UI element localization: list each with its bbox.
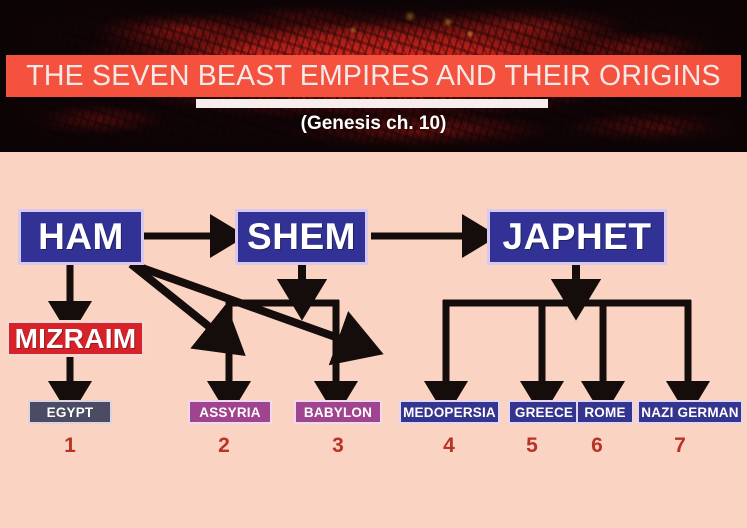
node-assyria[interactable]: ASSYRIA	[188, 400, 272, 424]
number-greece: 5	[502, 434, 562, 458]
number-egypt: 1	[40, 434, 100, 458]
title-underline	[196, 99, 548, 108]
header-banner: THE SEVEN BEAST EMPIRES AND THEIR ORIGIN…	[0, 0, 747, 152]
number-assyria: 2	[194, 434, 254, 458]
node-nazi-german[interactable]: NAZI GERMAN	[637, 400, 743, 424]
node-ham[interactable]: HAM	[18, 209, 144, 265]
number-medopersia: 4	[419, 434, 479, 458]
node-egypt[interactable]: EGYPT	[28, 400, 112, 424]
genealogy-diagram: HAM SHEM JAPHET MIZRAIM EGYPT ASSYRIA BA…	[0, 152, 747, 528]
number-babylon: 3	[308, 434, 368, 458]
node-greece[interactable]: GREECE	[508, 400, 580, 424]
page-title: THE SEVEN BEAST EMPIRES AND THEIR ORIGIN…	[6, 55, 741, 97]
node-shem[interactable]: SHEM	[235, 209, 368, 265]
node-rome[interactable]: ROME	[576, 400, 634, 424]
node-babylon[interactable]: BABYLON	[294, 400, 382, 424]
number-nazi-german: 7	[650, 434, 710, 458]
subtitle: (Genesis ch. 10)	[0, 113, 747, 135]
node-mizraim[interactable]: MIZRAIM	[6, 320, 145, 357]
node-japhet[interactable]: JAPHET	[487, 209, 667, 265]
title-bar: THE SEVEN BEAST EMPIRES AND THEIR ORIGIN…	[6, 55, 741, 97]
number-rome: 6	[567, 434, 627, 458]
node-medopersia[interactable]: MEDOPERSIA	[399, 400, 500, 424]
slide-canvas: THE SEVEN BEAST EMPIRES AND THEIR ORIGIN…	[0, 0, 747, 528]
